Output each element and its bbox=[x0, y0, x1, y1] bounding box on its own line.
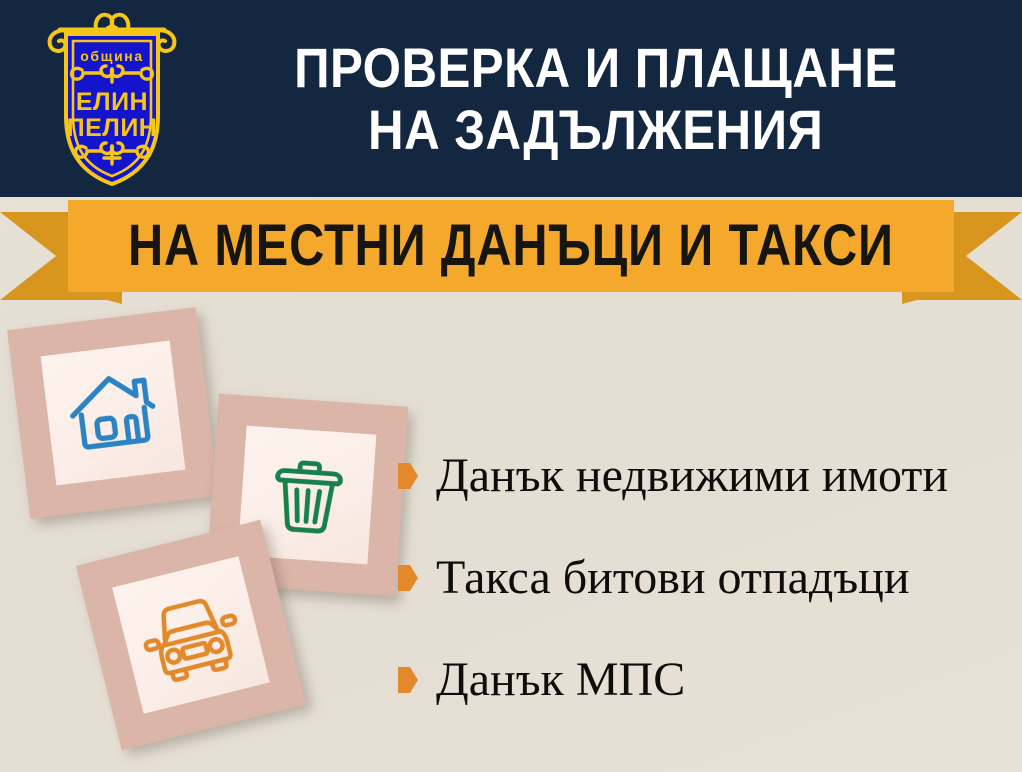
coat-of-arms-icon: община ЕЛИН ПЕЛИН bbox=[44, 8, 180, 190]
list-item-label: Данък недвижими имоти bbox=[436, 450, 948, 502]
crest-word-elin: ЕЛИН bbox=[76, 88, 148, 116]
ribbon-band: НА МЕСТНИ ДАНЪЦИ И ТАКСИ bbox=[68, 200, 954, 292]
poster-canvas: община ЕЛИН ПЕЛИН ПРОВЕРКА И ПЛАЩАНЕ НА … bbox=[0, 0, 1022, 772]
services-list: Данък недвижими имоти Такса битови отпад… bbox=[398, 425, 1018, 731]
real-estate-stamp bbox=[7, 307, 219, 519]
title-line-2: НА ЗАДЪЛЖЕНИЯ bbox=[368, 99, 823, 161]
header-bar: община ЕЛИН ПЕЛИН ПРОВЕРКА И ПЛАЩАНЕ НА … bbox=[0, 0, 1022, 197]
poster-title: ПРОВЕРКА И ПЛАЩАНЕ НА ЗАДЪЛЖЕНИЯ bbox=[186, 18, 1006, 180]
list-item[interactable]: Данък МПС bbox=[398, 629, 1018, 731]
municipality-crest: община ЕЛИН ПЕЛИН bbox=[44, 8, 180, 190]
arrow-bullet-icon bbox=[398, 565, 418, 591]
crest-word-obshtina: община bbox=[80, 48, 143, 64]
arrow-bullet-icon bbox=[398, 463, 418, 489]
list-item[interactable]: Данък недвижими имоти bbox=[398, 425, 1018, 527]
arrow-bullet-icon bbox=[398, 667, 418, 693]
list-item-label: Данък МПС bbox=[436, 654, 685, 706]
ribbon-label: НА МЕСТНИ ДАНЪЦИ И ТАКСИ bbox=[128, 217, 894, 275]
list-item-label: Такса битови отпадъци bbox=[436, 552, 910, 604]
house-icon bbox=[41, 341, 186, 486]
list-item[interactable]: Такса битови отпадъци bbox=[398, 527, 1018, 629]
crest-word-pelin: ПЕЛИН bbox=[67, 114, 158, 142]
title-line-1: ПРОВЕРКА И ПЛАЩАНЕ bbox=[294, 37, 898, 99]
